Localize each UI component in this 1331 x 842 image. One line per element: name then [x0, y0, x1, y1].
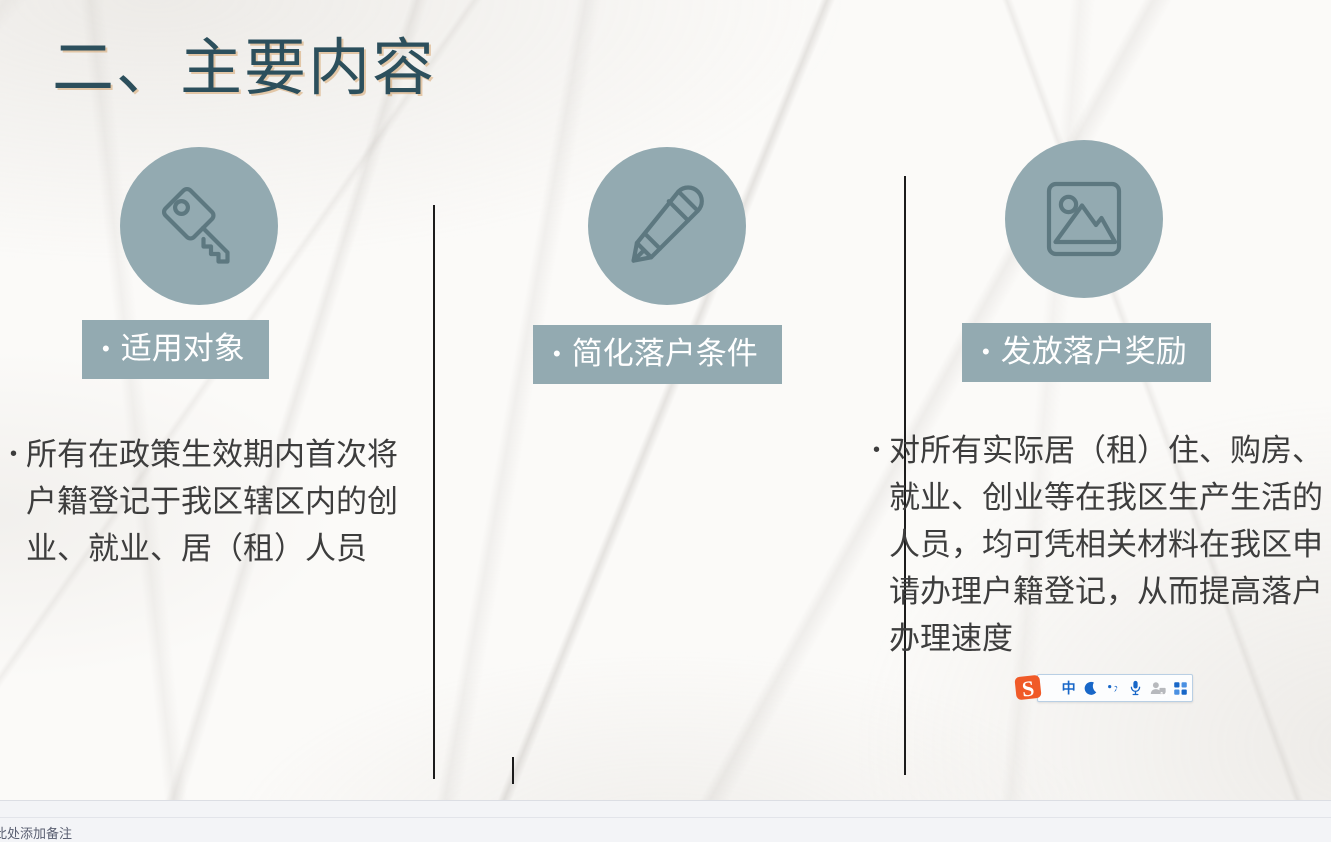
moon-mode-icon[interactable]: [1079, 675, 1101, 701]
notes-placeholder-text[interactable]: 单击此处添加备注: [0, 823, 72, 842]
column-heading-2[interactable]: • 简化落户条件: [533, 325, 782, 384]
punctuation-icon[interactable]: [1102, 675, 1124, 701]
column-heading-3[interactable]: • 发放落户奖励: [962, 323, 1211, 382]
sogou-logo-icon[interactable]: S: [1013, 672, 1045, 704]
icon-badge-3[interactable]: [1005, 140, 1163, 298]
ime-language-label: 中: [1062, 681, 1076, 695]
microphone-icon-svg: [1128, 680, 1143, 696]
notes-divider: [0, 817, 1331, 818]
content-column-1: • 适用对象 • 所有在政策生效期内首次将户籍登记于我区辖区内的创业、就业、居（…: [0, 0, 435, 800]
column-body-text: 所有在政策生效期内首次将户籍登记于我区辖区内的创业、就业、居（租）人员: [26, 431, 425, 572]
column-heading-label: 简化落户条件: [572, 338, 758, 369]
bullet-glyph: •: [982, 341, 990, 363]
icon-badge-1[interactable]: [120, 147, 278, 305]
column-body-1[interactable]: • 所有在政策生效期内首次将户籍登记于我区辖区内的创业、就业、居（租）人员: [10, 431, 425, 572]
page-title[interactable]: 二、主要内容: [52, 36, 436, 103]
pencil-icon: [621, 180, 713, 272]
icon-badge-2[interactable]: [588, 147, 746, 305]
voice-input-icon[interactable]: [1124, 675, 1146, 701]
column-heading-1[interactable]: • 适用对象: [82, 320, 269, 379]
grid-icon-svg: [1173, 681, 1188, 696]
bullet-glyph: •: [102, 338, 110, 360]
bullet-glyph: •: [10, 431, 26, 572]
toolbox-grid-icon[interactable]: [1170, 675, 1192, 701]
language-toggle-button[interactable]: 中: [1058, 675, 1079, 701]
image-icon: [1038, 173, 1130, 265]
sogou-ime-toolbar[interactable]: 中 14: [1037, 674, 1193, 702]
svg-text:S: S: [1021, 675, 1036, 701]
column-heading-label: 适用对象: [121, 333, 245, 364]
user-badge-count: 14: [1160, 692, 1168, 699]
notes-pane[interactable]: 单击此处添加备注: [0, 800, 1331, 842]
column-heading-label: 发放落户奖励: [1001, 336, 1187, 367]
moon-icon-svg: [1083, 681, 1098, 696]
user-skin-icon[interactable]: 14: [1146, 675, 1169, 701]
bullet-glyph: •: [553, 343, 561, 365]
bullet-glyph: •: [873, 427, 889, 663]
punctuation-icon-svg: [1105, 681, 1120, 696]
text-edit-caret: [512, 757, 514, 784]
key-icon: [153, 180, 245, 272]
content-column-2: • 简化落户条件 • 对所有实际居（租）住、购房、就业、创业等在我区生产生活的人…: [435, 0, 905, 800]
